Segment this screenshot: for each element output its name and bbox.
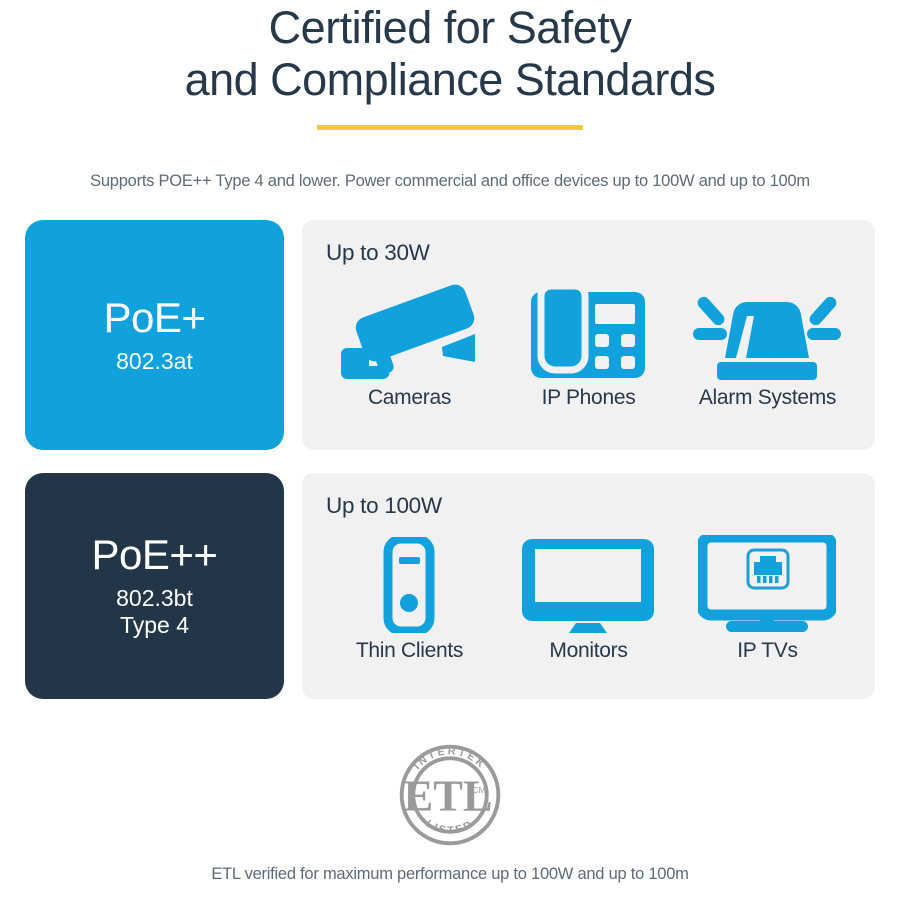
ip-phone-icon — [529, 274, 647, 380]
device-item-monitors: Monitors — [500, 527, 677, 663]
page-title-line-1: Certified for Safety — [0, 2, 900, 54]
page-footer: INTERTEK LISTED ETL CM ETL verified for … — [0, 737, 900, 884]
device-label: Monitors — [549, 639, 627, 663]
poe-plus-badge-card: PoE+ 802.3at — [25, 220, 284, 450]
device-item-alarm-systems: Alarm Systems — [679, 274, 856, 410]
device-item-thin-clients: Thin Clients — [321, 527, 498, 663]
device-list: Cameras — [320, 274, 857, 410]
security-camera-icon — [339, 274, 479, 380]
poe-tier-row: PoE++ 802.3bt Type 4 Up to 100W T — [25, 473, 875, 699]
alarm-siren-icon — [691, 274, 843, 380]
badge-subtitle-line: 802.3bt — [116, 585, 193, 612]
poe-plus-devices-panel: Up to 30W — [302, 220, 875, 450]
badge-title: PoE+ — [104, 297, 206, 339]
badge-subtitle: 802.3at — [116, 348, 193, 375]
device-item-cameras: Cameras — [321, 274, 498, 410]
device-label: Alarm Systems — [699, 386, 836, 410]
panel-heading: Up to 30W — [326, 240, 857, 266]
etl-superscript-text: CM — [472, 785, 486, 795]
title-divider — [317, 125, 583, 130]
device-item-ip-tvs: IP TVs — [679, 527, 856, 663]
etl-center-text: ETL — [404, 771, 493, 821]
badge-subtitle-line: Type 4 — [116, 612, 193, 639]
device-list: Thin Clients Monitors — [320, 527, 857, 663]
device-label: Cameras — [368, 386, 451, 410]
device-label: IP Phones — [542, 386, 636, 410]
page-subtitle: Supports POE++ Type 4 and lower. Power c… — [0, 172, 900, 191]
etl-intertek-listed-icon: INTERTEK LISTED ETL CM — [392, 737, 508, 853]
badge-title: PoE++ — [92, 534, 218, 576]
page-title-line-2: and Compliance Standards — [0, 54, 900, 106]
footer-caption: ETL verified for maximum performance up … — [0, 865, 900, 884]
panel-heading: Up to 100W — [326, 493, 857, 519]
badge-subtitle-line: 802.3at — [116, 348, 193, 375]
monitor-icon — [520, 527, 656, 633]
poe-plusplus-badge-card: PoE++ 802.3bt Type 4 — [25, 473, 284, 699]
ip-tv-icon — [698, 527, 836, 633]
etl-logo-wrap: INTERTEK LISTED ETL CM — [0, 737, 900, 853]
thin-client-icon — [374, 527, 444, 633]
poe-plusplus-devices-panel: Up to 100W Thin Clients — [302, 473, 875, 699]
poe-tiers: PoE+ 802.3at Up to 30W — [0, 220, 900, 699]
device-label: Thin Clients — [356, 639, 463, 663]
page-header: Certified for Safety and Compliance Stan… — [0, 0, 900, 191]
device-item-ip-phones: IP Phones — [500, 274, 677, 410]
badge-subtitle: 802.3bt Type 4 — [116, 585, 193, 638]
poe-tier-row: PoE+ 802.3at Up to 30W — [25, 220, 875, 450]
device-label: IP TVs — [737, 639, 797, 663]
